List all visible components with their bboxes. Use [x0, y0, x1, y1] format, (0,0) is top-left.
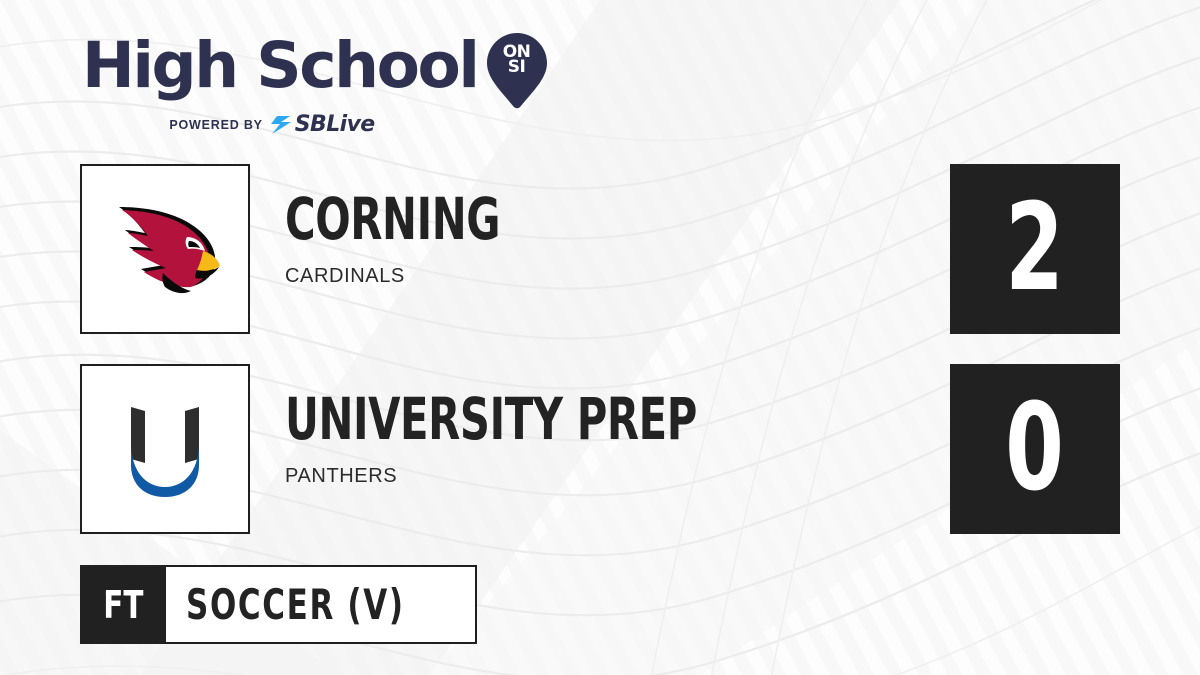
sport-label: SOCCER (V) — [186, 580, 405, 629]
powered-by-row: POWERED BY SBLive — [82, 114, 462, 136]
pin-label-si: SI — [486, 60, 548, 75]
team-score-box: 0 — [950, 364, 1120, 534]
team-info: CORNING CARDINALS — [285, 190, 554, 288]
lightning-bolt-icon — [270, 115, 292, 135]
status-code-badge: FT — [80, 565, 166, 644]
team-name: CORNING — [285, 190, 500, 248]
pin-label: ON SI — [486, 45, 548, 75]
status-banner: FT SOCCER (V) — [80, 565, 477, 644]
status-code-label: FT — [103, 583, 143, 627]
cardinal-head-logo — [101, 185, 229, 313]
team-name: UNIVERSITY PREP — [285, 390, 697, 448]
sblive-wordmark: SBLive — [295, 114, 375, 136]
brand-logo: High School ON SI POWERED BY SBLive — [82, 36, 502, 132]
university-prep-u-logo — [101, 385, 229, 513]
team-logo-box — [80, 364, 250, 534]
brand-wordmark: High School ON SI — [82, 36, 502, 110]
team-info: UNIVERSITY PREP PANTHERS — [285, 390, 800, 488]
sblive-logo: SBLive — [270, 114, 375, 136]
powered-by-label: POWERED BY — [169, 118, 262, 132]
sport-label-box: SOCCER (V) — [166, 565, 477, 644]
team-mascot: PANTHERS — [285, 465, 800, 488]
team-logo-box — [80, 164, 250, 334]
team-score: 0 — [1006, 389, 1065, 509]
team-score-box: 2 — [950, 164, 1120, 334]
team-score: 2 — [1006, 189, 1065, 309]
team-mascot: CARDINALS — [285, 265, 554, 288]
location-pin-icon: ON SI — [486, 32, 548, 110]
brand-word-high-school: High School — [82, 36, 478, 96]
scoreboard-graphic: High School ON SI POWERED BY SBLive — [0, 0, 1200, 675]
